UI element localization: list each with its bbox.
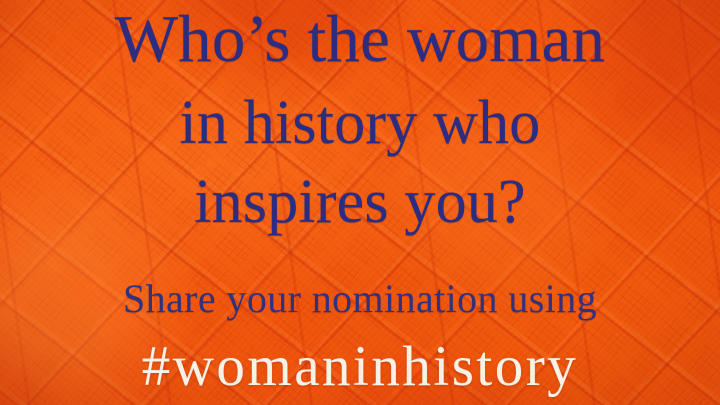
headline-line-2: in history who [0, 92, 720, 154]
campaign-hashtag: #womaninhistory [0, 338, 720, 395]
poster-text-content: Who’s the woman in history who inspires … [0, 0, 720, 405]
headline-line-1: Who’s the woman [0, 6, 720, 73]
campaign-poster: Who’s the woman in history who inspires … [0, 0, 720, 405]
headline-line-3: inspires you? [0, 171, 720, 233]
call-to-action-text: Share your nomination using [0, 279, 720, 319]
